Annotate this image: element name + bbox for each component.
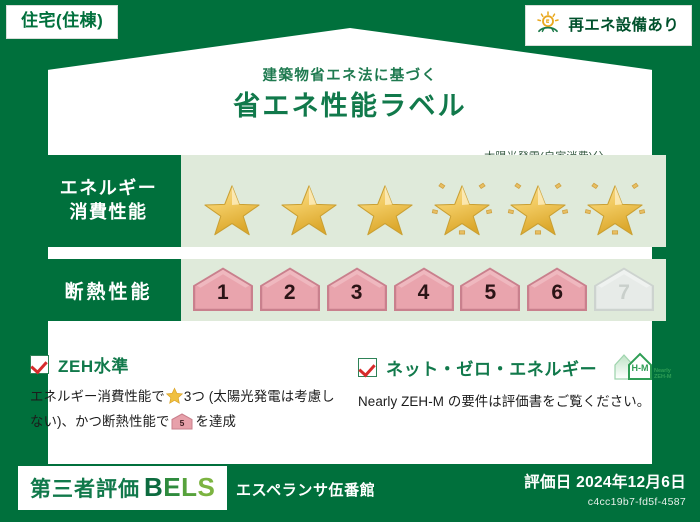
bels-letter-S: S [198, 472, 216, 502]
zeh-text-c: を達成 [195, 414, 235, 429]
insulation-badge-2: 2 [257, 265, 323, 315]
label-uid: c4cc19b7-fd5f-4587 [524, 496, 686, 508]
insulation-badge-number: 1 [190, 281, 256, 305]
svg-text:ZEH-M: ZEH-M [654, 374, 672, 380]
zeh-text-a: エネルギー消費性能で [30, 389, 165, 404]
energy-performance-label: 住宅(住棟) 再エネ設備あり 建築物省エネ法に基づく 省エネ性能ラ [0, 0, 700, 522]
check-icon [358, 358, 377, 377]
zeh-note-header: ZEH水準 [30, 352, 340, 377]
nzeb-note-header: ネット・ゼロ・エネルギー H-M Nearly ZEH- [358, 352, 668, 382]
bels-footer-chip: 第三者評価 BELS [18, 466, 227, 510]
insulation-badge-number: 3 [324, 281, 390, 305]
energy-key-line1: エネルギー [60, 177, 158, 201]
bels-letter-B: B [144, 472, 163, 502]
star-4 [429, 174, 495, 240]
insulation-badge-5: 5 [457, 265, 523, 315]
renewable-energy-chip: 再エネ設備あり [525, 5, 692, 46]
nzeb-note-title: ネット・ゼロ・エネルギー [386, 355, 597, 380]
insulation-performance-key: 断熱性能 [36, 259, 181, 321]
label-subtitle: 建築物省エネ法に基づく [0, 64, 700, 85]
bels-letter-L: L [181, 472, 197, 502]
star-1 [199, 174, 265, 240]
svg-text:H-M: H-M [632, 363, 649, 373]
nzeb-note: ネット・ゼロ・エネルギー H-M Nearly ZEH- [358, 352, 668, 436]
building-category-label: 住宅(住棟) [21, 11, 103, 30]
zeh-note: ZEH水準 エネルギー消費性能で3つ (太陽光発電は考慮しない)、かつ断熱性能で… [30, 352, 340, 436]
evaluation-date: 評価日 2024年12月6日 [524, 470, 686, 492]
insulation-grade-scale: 1 2 3 4 5 6 [181, 259, 666, 321]
insulation-badge-1: 1 [190, 265, 256, 315]
star-2 [276, 174, 342, 240]
building-category-chip: 住宅(住棟) [6, 5, 118, 39]
zeh-m-logo-icon: H-M Nearly ZEH-M [612, 352, 674, 382]
inline-house-badge: 5 [171, 413, 193, 437]
bels-logo: BELS [144, 472, 215, 503]
star-rating [181, 170, 666, 244]
sun-energy-icon [535, 11, 561, 40]
svg-text:Nearly: Nearly [654, 368, 672, 374]
check-icon [30, 355, 49, 374]
evaluation-date-label: 評価日 [524, 474, 571, 491]
insulation-badge-7: 7 [591, 265, 657, 315]
third-party-label: 第三者評価 [30, 473, 140, 503]
bels-letter-E: E [163, 472, 181, 502]
star-6 [582, 174, 648, 240]
svg-text:5: 5 [180, 418, 185, 428]
zeh-note-title: ZEH水準 [58, 352, 129, 377]
energy-key-line2: 消費性能 [70, 201, 148, 225]
energy-performance-row: エネルギー 消費性能 [36, 155, 666, 247]
energy-performance-key: エネルギー 消費性能 [36, 155, 181, 247]
criteria-notes: ZEH水準 エネルギー消費性能で3つ (太陽光発電は考慮しない)、かつ断熱性能で… [30, 352, 670, 436]
inline-star-icon [166, 387, 183, 411]
insulation-badge-number: 4 [391, 281, 457, 305]
label-title: 省エネ性能ラベル [0, 84, 700, 123]
star-5 [505, 174, 571, 240]
star-3 [352, 174, 418, 240]
footer-meta: 評価日 2024年12月6日 c4cc19b7-fd5f-4587 [524, 470, 686, 508]
evaluation-date-value: 2024年12月6日 [576, 474, 686, 491]
insulation-badge-3: 3 [324, 265, 390, 315]
energy-performance-value [181, 155, 666, 247]
insulation-badge-6: 6 [524, 265, 590, 315]
insulation-badge-4: 4 [391, 265, 457, 315]
nzeb-note-body: Nearly ZEH-M の要件は評価書をご覧ください。 [358, 391, 668, 413]
property-name: エスペランサ伍番館 [236, 479, 375, 500]
renewable-energy-label: 再エネ設備あり [568, 18, 679, 34]
insulation-performance-value: 1 2 3 4 5 6 [181, 259, 666, 321]
insulation-badge-number: 7 [591, 281, 657, 305]
insulation-badge-number: 6 [524, 281, 590, 305]
zeh-note-body: エネルギー消費性能で3つ (太陽光発電は考慮しない)、かつ断熱性能で5を達成 [30, 386, 340, 436]
insulation-badge-number: 2 [257, 281, 323, 305]
insulation-performance-row: 断熱性能 1 2 3 4 [36, 259, 666, 321]
insulation-badge-number: 5 [457, 281, 523, 305]
